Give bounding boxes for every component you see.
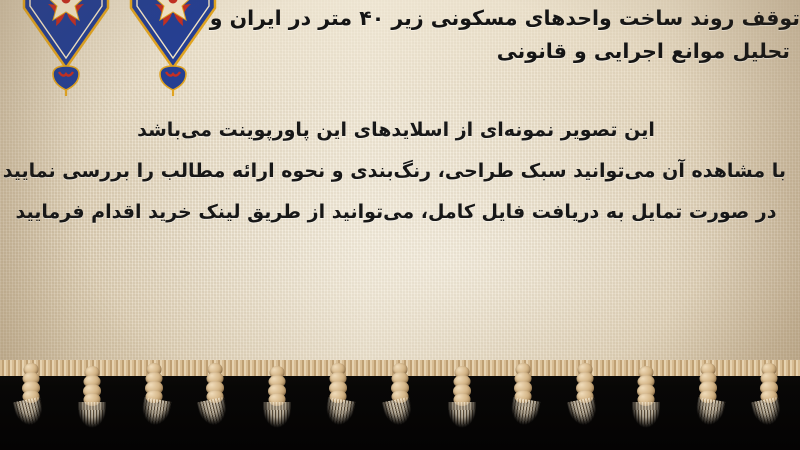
body-line-3: در صورت تمایل به دریافت فایل کامل، می‌تو… [6,192,786,233]
tassel-brush [197,397,234,446]
tassel-brush [566,397,603,446]
tassel-brush [448,402,476,446]
tassel [567,363,603,449]
body-line-2: با مشاهده آن می‌توانید سبک طراحی، رنگ‌بن… [6,151,786,192]
tassel [628,366,664,450]
tassel-brush [136,397,171,445]
tassel [444,366,480,450]
slide-canvas: سی توقف روند ساخت واحدهای مسکونی زیر ۴۰ … [0,0,800,450]
title-line-1: سی توقف روند ساخت واحدهای مسکونی زیر ۴۰ … [130,2,800,35]
tassel-brush [690,397,725,445]
tassel-brush [382,397,419,446]
tassel [197,363,233,449]
tassel-brush [632,402,660,446]
tassel-brush [321,397,356,445]
bottom-black-band [0,360,800,450]
tassel [320,363,356,449]
tassel [136,363,172,449]
tassel-brush [12,397,49,446]
tassel [505,363,541,449]
tassel [259,366,295,450]
tassel [13,363,49,449]
persian-carpet-medallion-icon-left [18,0,114,100]
tassel-brush [751,397,788,446]
slide-body-text: این تصویر نمونه‌ای از اسلایدهای این پاور… [6,110,786,233]
slide-title: سی توقف روند ساخت واحدهای مسکونی زیر ۴۰ … [130,2,790,68]
title-line-2: تحلیل موانع اجرایی و قانونی [130,35,790,68]
tassel-brush [78,402,106,446]
tassel-brush [505,397,540,445]
tassel [751,363,787,449]
body-line-1: این تصویر نمونه‌ای از اسلایدهای این پاور… [6,110,786,151]
tassel [382,363,418,449]
tassel [690,363,726,449]
tassel [74,366,110,450]
tassel-brush [263,402,291,446]
